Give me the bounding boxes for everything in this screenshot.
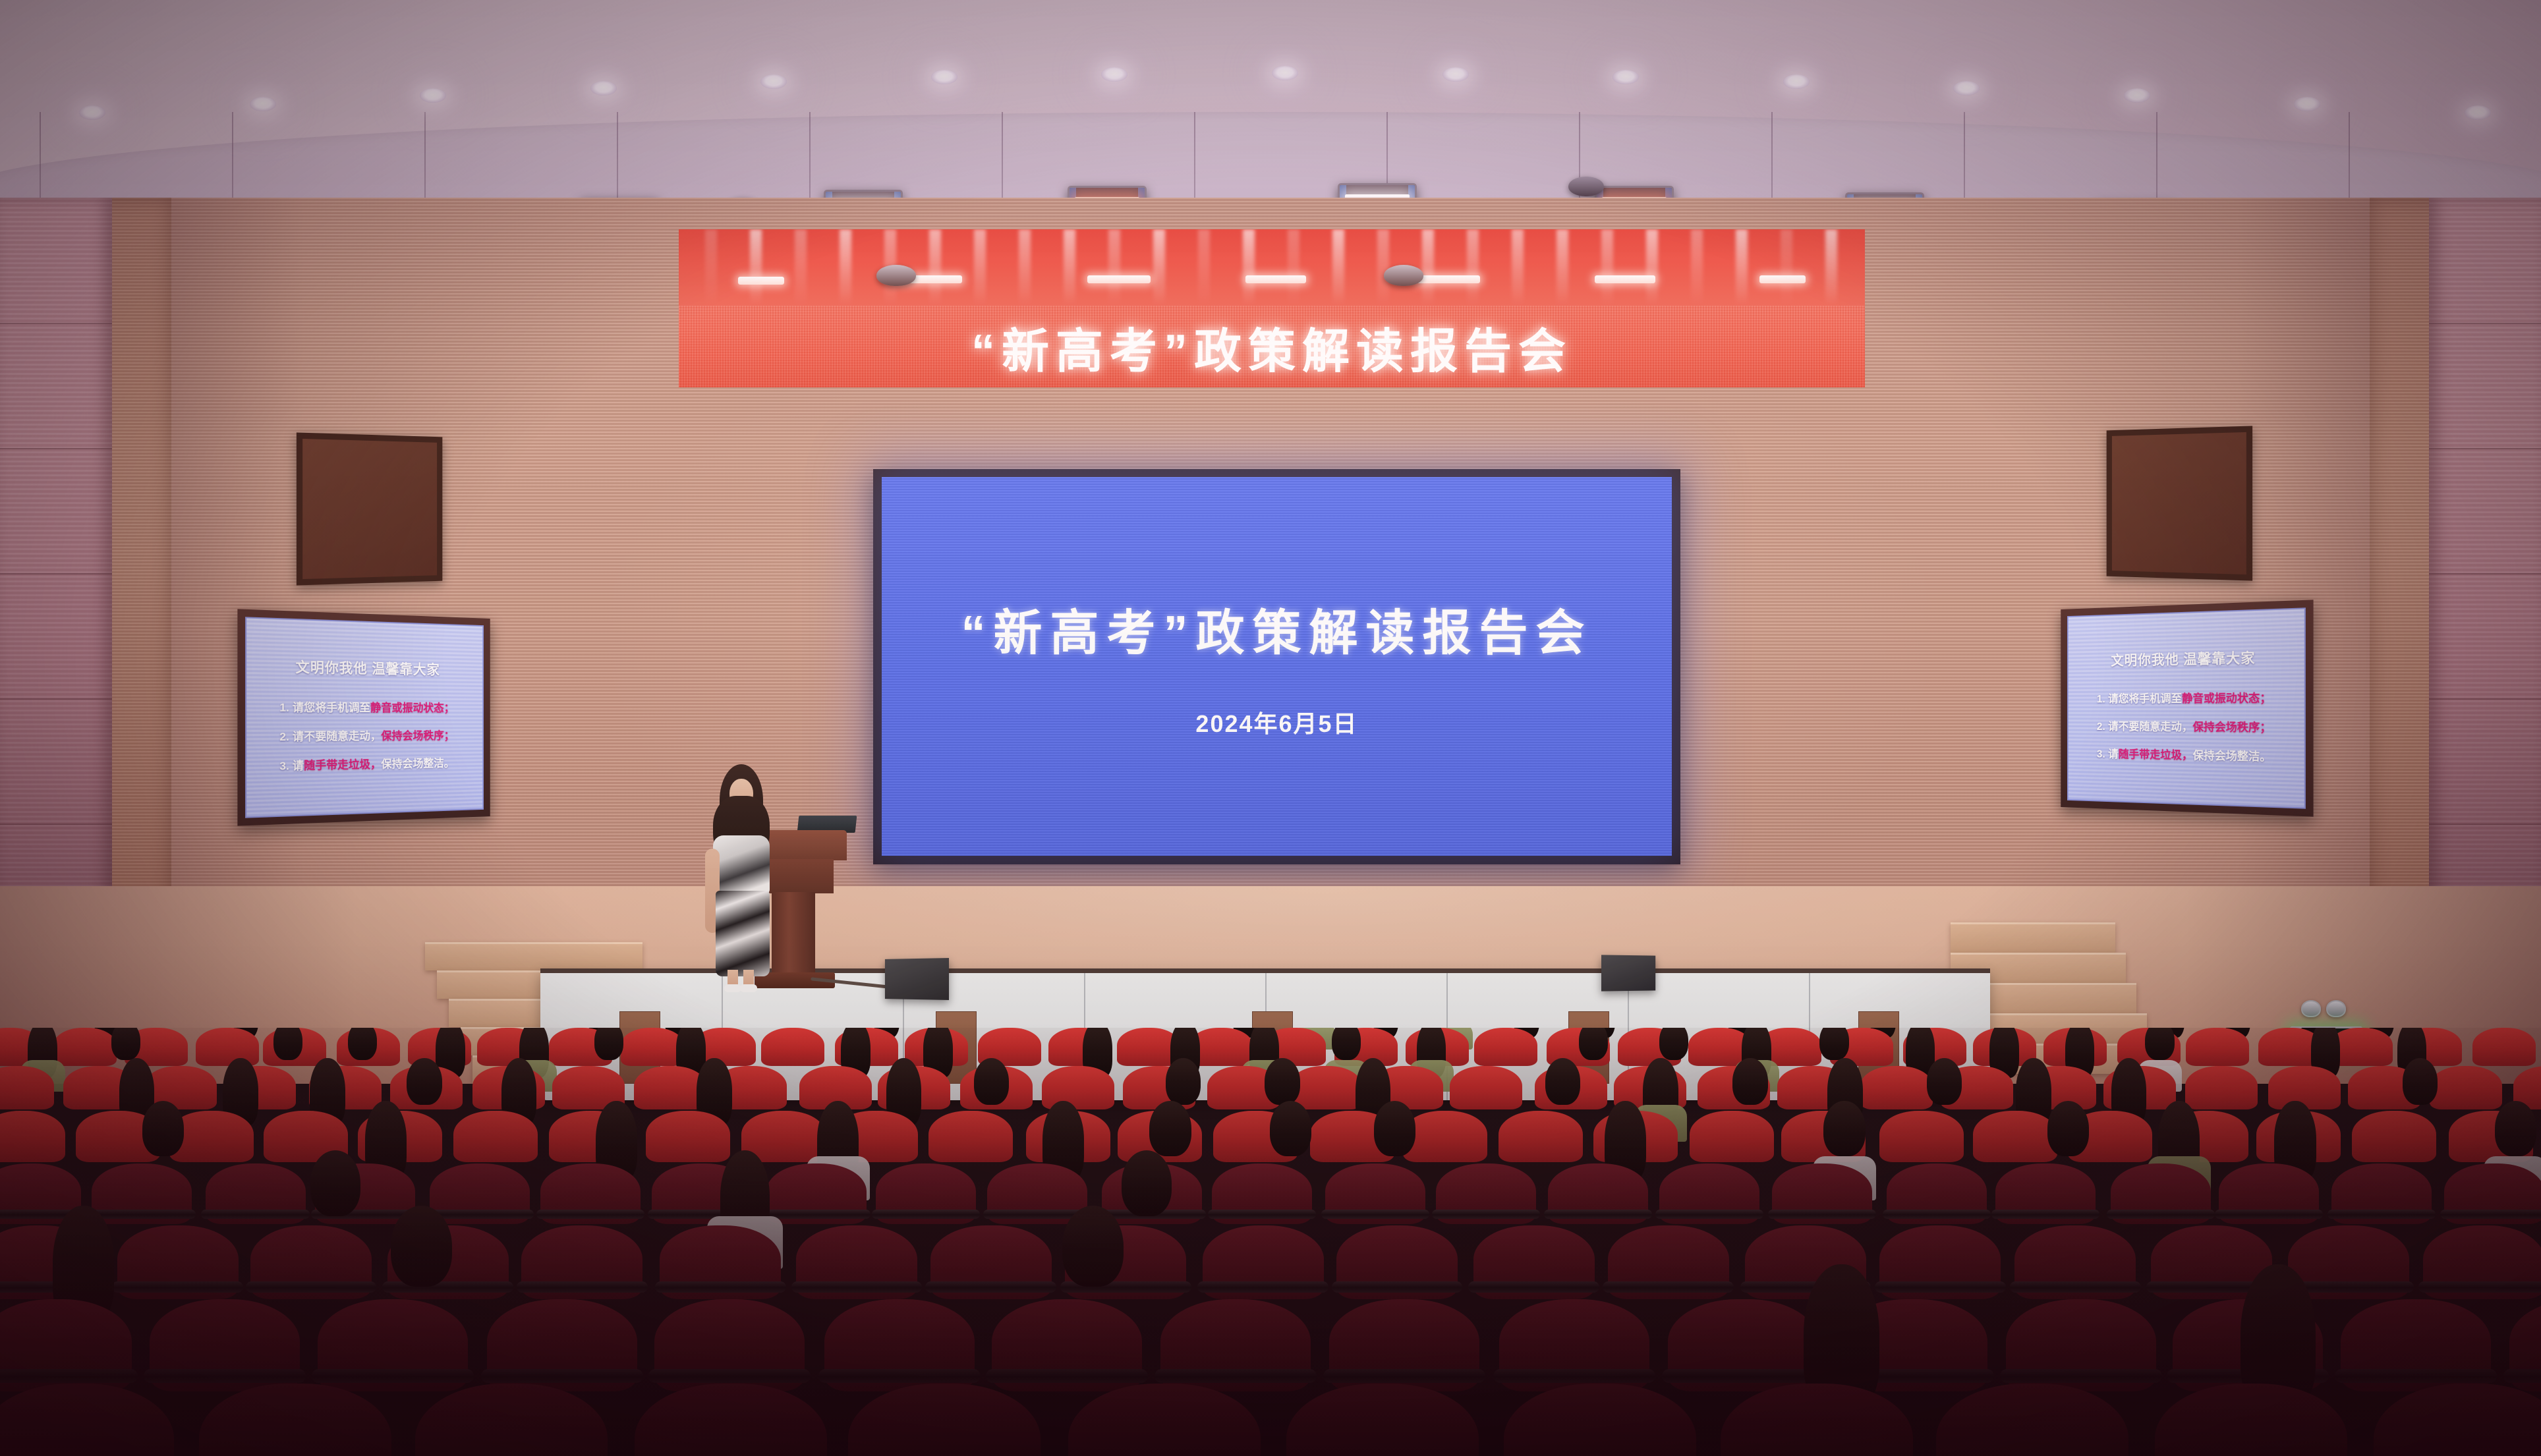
- banner-title-text: “新高考”政策解读报告会: [971, 312, 1572, 381]
- seat-top-rail: [517, 1281, 648, 1293]
- auditorium-seat: [1936, 1384, 2128, 1456]
- auditorium-seat: [2186, 1028, 2249, 1066]
- seat-top-rail: [1991, 1210, 2099, 1219]
- wall-panel-seam: [2429, 698, 2541, 700]
- banner-light-streak: [750, 229, 762, 306]
- banner-light-streak: [1556, 229, 1568, 306]
- auditorium-seat: [1286, 1384, 1479, 1456]
- banner-dome-speaker: [1384, 265, 1423, 286]
- seat-top-rail: [2503, 1369, 2541, 1383]
- wall-panel-seam: [2429, 824, 2541, 825]
- auditorium-seat: [1042, 1066, 1114, 1109]
- banner-light-streak: [1736, 229, 1748, 306]
- notice-heading-right: 文明你我他 温馨靠大家: [2111, 647, 2255, 669]
- ceiling-dome-speaker: [1568, 177, 1604, 196]
- notice-line-3-white: 3. 请: [279, 759, 304, 772]
- auditorium-seat: [1474, 1028, 1537, 1066]
- audience-head: [1265, 1058, 1299, 1105]
- auditorium-seat: [2185, 1066, 2258, 1109]
- banner-light-streak: [705, 229, 717, 306]
- seat-top-rail: [1768, 1210, 1876, 1219]
- notice-line-1-white: 1. 请您将手机调至: [279, 701, 370, 714]
- ceiling-downlight: [420, 88, 446, 103]
- auditorium-seat: [635, 1384, 827, 1456]
- wall-panel-seam: [2429, 323, 2541, 324]
- seat-top-rail: [1655, 1210, 1763, 1219]
- notice-r3-red: 随手带走垃圾，: [2119, 748, 2193, 762]
- auditorium-seat: [2268, 1066, 2341, 1109]
- notice-r2-red: 保持会场秩序；: [2192, 721, 2271, 734]
- banner-light-streak: [1243, 229, 1255, 306]
- notice-line-3-white2: 保持会场整洁。: [381, 757, 454, 771]
- main-screen-title: “新高考”政策解读报告会: [961, 594, 1593, 664]
- audience-head: [1819, 1028, 1849, 1060]
- banner-lamp-slit: [1759, 275, 1806, 283]
- ceiling-downlight: [2294, 97, 2320, 111]
- right-notice-screen-content: 文明你我他 温馨靠大家 1. 请您将手机调至静音或振动状态； 2. 请不要随意走…: [2067, 607, 2306, 808]
- audience-head: [1659, 1028, 1689, 1060]
- auditorium-seat: [2374, 1384, 2541, 1456]
- ceiling-downlight: [1953, 81, 1980, 96]
- presenter-shoe-right: [740, 984, 757, 992]
- notice-line-3-red: 随手带走垃圾，: [304, 758, 381, 771]
- audience-head: [974, 1058, 1009, 1105]
- wall-panel-seam: [2429, 573, 2541, 574]
- banner-light-streak: [1377, 229, 1389, 306]
- notice-r2-white: 2. 请不要随意走动，: [2097, 720, 2193, 733]
- banner-light-streak: [1825, 229, 1837, 306]
- audience-head: [1579, 1028, 1609, 1060]
- notice-line-2-white: 2. 请不要随意走动，: [279, 729, 381, 742]
- audience-head: [310, 1150, 360, 1216]
- auditorium-seat: [0, 1111, 65, 1162]
- seat-top-rail: [246, 1281, 377, 1293]
- seat-top-rail: [986, 1369, 1148, 1383]
- auditorium-seat: [848, 1384, 1041, 1456]
- main-led-screen: “新高考”政策解读报告会 2024年6月5日: [882, 477, 1672, 856]
- banner-upper-lightbar: [679, 229, 1865, 306]
- seat-top-rail: [144, 1369, 306, 1383]
- auditorium-seat: [1068, 1384, 1261, 1456]
- banner-light-streak: [1153, 229, 1165, 306]
- banner-light-streak: [1422, 229, 1434, 306]
- banner-light-streak: [1691, 229, 1703, 306]
- seat-top-rail: [1662, 1369, 1824, 1383]
- notice-line-2: 2. 请不要随意走动，保持会场秩序；: [279, 726, 454, 744]
- auditorium-seat: [1403, 1111, 1487, 1162]
- seat-top-rail: [1323, 1369, 1485, 1383]
- seat-top-rail: [2010, 1281, 2141, 1293]
- seat-top-rail: [2327, 1210, 2436, 1219]
- wall-panel-seam: [0, 323, 112, 324]
- seat-top-rail: [201, 1210, 309, 1219]
- banner-light-streak: [1019, 229, 1031, 306]
- ceiling-downlight: [931, 70, 957, 84]
- main-screen-date: 2024年6月5日: [1195, 705, 1357, 739]
- seat-top-rail: [1468, 1281, 1599, 1293]
- notice-line-1-right: 1. 请您将手机调至静音或振动状态；: [2097, 688, 2271, 706]
- audience-head: [1823, 1101, 1865, 1156]
- audience-head: [1332, 1028, 1361, 1060]
- auditorium-seat: [1504, 1384, 1696, 1456]
- auditorium-seat: [1860, 1066, 1933, 1109]
- auditorium-seat: [2352, 1111, 2436, 1162]
- auditorium-seat: [634, 1066, 706, 1109]
- seat-top-rail: [1603, 1281, 1734, 1293]
- ceiling-downlight: [1613, 70, 1639, 84]
- banner-lamp-slit: [1595, 275, 1655, 283]
- ceiling-downlight: [250, 97, 276, 111]
- seat-top-rail: [655, 1281, 786, 1293]
- stage-step: [1951, 922, 2115, 953]
- seat-top-rail: [648, 1369, 811, 1383]
- stage-step: [425, 942, 642, 970]
- audience-head: [2495, 1101, 2536, 1156]
- ceiling-downlight: [1101, 67, 1128, 82]
- seat-top-rail: [2107, 1210, 2215, 1219]
- auditorium-seat: [0, 1066, 54, 1109]
- auditorium-seat: [761, 1028, 824, 1066]
- banner-light-streak: [1288, 229, 1299, 306]
- notice-line-1-red: 静音或振动状态；: [370, 702, 454, 714]
- auditorium-seat: [199, 1384, 391, 1456]
- seat-top-rail: [1883, 1210, 1991, 1219]
- seat-top-rail: [1544, 1210, 1652, 1219]
- audience-head: [2047, 1101, 2089, 1156]
- seat-top-rail: [791, 1281, 923, 1293]
- auditorium-seat: [1690, 1111, 1774, 1162]
- notice-line-2-red: 保持会场秩序；: [381, 729, 454, 742]
- main-led-screen-frame: “新高考”政策解读报告会 2024年6月5日: [873, 469, 1680, 864]
- seat-top-rail: [762, 1210, 871, 1219]
- ceiling-downlight: [2465, 105, 2491, 120]
- presenter-blouse: [713, 835, 770, 895]
- auditorium-seat: [621, 1028, 684, 1066]
- banner-light-streak: [1064, 229, 1075, 306]
- banner-dome-speaker: [876, 265, 916, 286]
- stage-header-led-banner: “新高考”政策解读报告会: [679, 229, 1865, 387]
- banner-lamp-slit: [1087, 275, 1151, 283]
- auditorium-seat: [0, 1384, 174, 1456]
- seat-top-rail: [1321, 1210, 1429, 1219]
- left-notice-screen-content: 文明你我他 温馨靠大家 1. 请您将手机调至静音或振动状态； 2. 请不要随意走…: [245, 617, 484, 818]
- audience-head: [2145, 1028, 2175, 1060]
- banner-light-streak: [1467, 229, 1479, 306]
- seat-top-rail: [872, 1210, 980, 1219]
- banner-light-streak: [1512, 229, 1524, 306]
- wall-panel-seam: [0, 573, 112, 574]
- seat-top-rail: [382, 1281, 513, 1293]
- presenter-shoe-left: [724, 984, 741, 992]
- banner-light-streak: [1198, 229, 1210, 306]
- banner-light-streak: [929, 229, 941, 306]
- auditorium-seat: [2155, 1384, 2347, 1456]
- notice-line-1: 1. 请您将手机调至静音或振动状态；: [279, 698, 454, 715]
- banner-light-streak: [840, 229, 851, 306]
- right-wall-panel-column: [2429, 198, 2541, 949]
- banner-light-streak: [1781, 229, 1792, 306]
- audience-head: [1149, 1101, 1191, 1156]
- notice-r1-red: 静音或振动状态；: [2182, 692, 2271, 705]
- audience-head: [1545, 1058, 1580, 1105]
- seat-top-rail: [0, 1369, 138, 1383]
- audience-head: [391, 1206, 452, 1287]
- auditorium-scene: “新高考”政策解读报告会 文明你我他 温馨靠大家 1. 请您将手机调至静音或振动…: [0, 0, 2541, 1456]
- ceiling-downlight: [2124, 88, 2150, 103]
- wall-panel-seam: [0, 698, 112, 700]
- auditorium-seat: [415, 1384, 608, 1456]
- banner-light-streak: [974, 229, 986, 306]
- seat-top-rail: [2418, 1281, 2541, 1293]
- notice-line-3-right: 3. 请随手带走垃圾，保持会场整洁。: [2097, 744, 2271, 764]
- audience-head: [1270, 1101, 1311, 1156]
- right-wall-acoustic-panel: [2107, 426, 2252, 580]
- notice-r3-white: 3. 请: [2097, 748, 2119, 760]
- audience-head: [1166, 1058, 1201, 1105]
- banner-light-streak: [795, 229, 807, 306]
- banner-lamp-slit: [738, 277, 784, 285]
- audience-head: [1122, 1150, 1172, 1216]
- audience-seating-area: [0, 1028, 2541, 1456]
- banner-lamp-slit: [1245, 275, 1306, 283]
- auditorium-seat: [1499, 1111, 1583, 1162]
- auditorium-seat: [1290, 1066, 1362, 1109]
- seat-top-rail: [1332, 1281, 1463, 1293]
- presenter-skirt: [716, 891, 770, 976]
- right-notice-screen: 文明你我他 温馨靠大家 1. 请您将手机调至静音或振动状态； 2. 请不要随意走…: [2061, 600, 2313, 816]
- audience-head: [1732, 1058, 1767, 1105]
- seat-top-rail: [536, 1210, 644, 1219]
- audience-head: [1374, 1101, 1415, 1156]
- banner-text-panel: “新高考”政策解读报告会: [679, 306, 1865, 387]
- auditorium-seat: [1450, 1066, 1522, 1109]
- audience-head: [142, 1101, 184, 1156]
- auditorium-seat: [2430, 1066, 2502, 1109]
- seat-top-rail: [2000, 1369, 2162, 1383]
- notice-r1-white: 1. 请您将手机调至: [2097, 692, 2182, 704]
- auditorium-seat: [928, 1111, 1013, 1162]
- seat-top-rail: [312, 1369, 474, 1383]
- auditorium-seat: [453, 1111, 538, 1162]
- ceiling-downlight: [590, 81, 617, 96]
- seat-top-rail: [88, 1210, 196, 1219]
- auditorium-seat: [1879, 1111, 1964, 1162]
- banner-light-streak: [1332, 229, 1344, 306]
- lectern-column: [772, 892, 815, 975]
- audience-head: [348, 1028, 378, 1060]
- auditorium-seat: [1721, 1384, 1913, 1456]
- seat-top-rail: [2335, 1369, 2497, 1383]
- audience-head: [111, 1028, 141, 1060]
- ceiling-downlight: [1783, 74, 1810, 89]
- auditorium-seat: [196, 1028, 259, 1066]
- seat-top-rail: [2215, 1210, 2323, 1219]
- audience-head: [1062, 1206, 1124, 1287]
- audience-head: [2403, 1058, 2438, 1105]
- notice-line-2-right: 2. 请不要随意走动，保持会场秩序；: [2097, 717, 2271, 735]
- auditorium-seat: [1973, 1111, 2057, 1162]
- seat-top-rail: [925, 1281, 1056, 1293]
- seat-top-rail: [481, 1369, 643, 1383]
- emergency-lamp-left: [2301, 1000, 2321, 1017]
- audience-head: [594, 1028, 624, 1060]
- wall-panel-seam: [2429, 448, 2541, 449]
- notice-line-3: 3. 请随手带走垃圾，保持会场整洁。: [279, 754, 454, 773]
- ceiling-downlight: [1272, 66, 1298, 80]
- seat-top-rail: [1493, 1369, 1655, 1383]
- audience-head: [407, 1058, 442, 1105]
- stage-monitor-speaker-left: [885, 958, 949, 1000]
- left-notice-screen: 文明你我他 温馨靠大家 1. 请您将手机调至静音或振动状态； 2. 请不要随意走…: [237, 609, 490, 826]
- presenter-person: [705, 764, 778, 988]
- notice-r3-white2: 保持会场整洁。: [2192, 749, 2271, 763]
- notice-heading: 文明你我他 温馨靠大家: [295, 656, 440, 679]
- wall-panel-seam: [0, 824, 112, 825]
- banner-lamp-slit: [1417, 275, 1480, 283]
- seat-top-rail: [818, 1369, 981, 1383]
- left-wall-panel-column: [0, 198, 112, 949]
- banner-light-streak: [1646, 229, 1658, 306]
- seat-top-rail: [1155, 1369, 1317, 1383]
- stage-monitor-speaker-right: [1601, 955, 1655, 991]
- left-wall-acoustic-panel: [297, 432, 442, 585]
- auditorium-seat: [646, 1111, 730, 1162]
- seat-top-rail: [1208, 1210, 1316, 1219]
- emergency-lamp-right: [2326, 1000, 2346, 1017]
- audience-head: [1927, 1058, 1962, 1105]
- auditorium-seat: [53, 1028, 117, 1066]
- banner-light-streak: [1601, 229, 1613, 306]
- ceiling-downlight: [1442, 67, 1469, 82]
- seat-top-rail: [1875, 1281, 2006, 1293]
- seat-top-rail: [2440, 1210, 2541, 1219]
- seat-top-rail: [112, 1281, 243, 1293]
- wall-panel-seam: [0, 448, 112, 449]
- seat-top-rail: [1432, 1210, 1540, 1219]
- audience-head: [273, 1028, 303, 1060]
- ceiling-downlight: [79, 105, 105, 120]
- banner-light-streak: [1108, 229, 1120, 306]
- seat-top-rail: [1197, 1281, 1328, 1293]
- auditorium-seat: [2472, 1028, 2536, 1066]
